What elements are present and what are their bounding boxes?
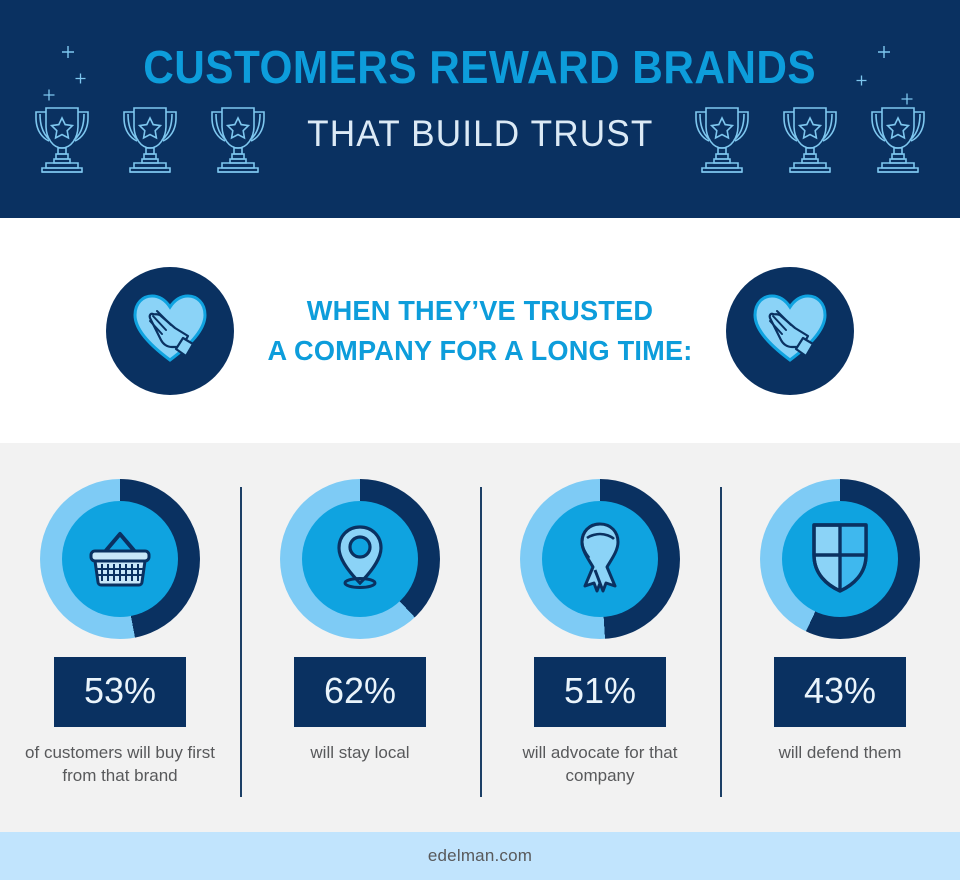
praying-hands-heart-icon <box>751 292 829 369</box>
shopping-basket-icon <box>84 526 156 593</box>
praying-hands-heart-icon <box>131 292 209 369</box>
donut-center <box>782 501 898 617</box>
praying-hands-heart-badge-left <box>106 267 234 395</box>
sparkle-plus-icon <box>74 72 87 85</box>
trophy-group-right <box>688 100 932 185</box>
percentage-badge: 62% <box>294 657 426 727</box>
trophy-group-left <box>28 100 272 185</box>
trust-statement-section: WHEN THEY’VE TRUSTED A COMPANY FOR A LON… <box>0 218 960 443</box>
footer-website-label: edelman.com <box>428 846 532 866</box>
donut-center <box>302 501 418 617</box>
donut-gauge <box>280 479 440 639</box>
trophy-icon <box>116 100 184 185</box>
donut-center <box>542 501 658 617</box>
sparkle-plus-icon <box>876 44 892 60</box>
location-pin-icon <box>328 521 392 598</box>
sparkle-plus-icon <box>855 74 868 87</box>
trophy-icon <box>688 100 756 185</box>
stat-column: 62% will stay local <box>240 443 480 832</box>
page-subtitle: THAT BUILD TRUST <box>307 114 653 154</box>
percentage-badge: 51% <box>534 657 666 727</box>
stat-column: 53% of customers will buy first from tha… <box>0 443 240 832</box>
page-title: CUSTOMERS REWARD BRANDS <box>144 42 817 92</box>
sparkle-plus-icon <box>900 92 914 106</box>
stat-caption: will advocate for that company <box>500 741 700 787</box>
header-banner: CUSTOMERS REWARD BRANDS THAT BUILD TRUST <box>0 0 960 218</box>
stats-section: 53% of customers will buy first from tha… <box>0 443 960 832</box>
footer-bar: edelman.com <box>0 832 960 880</box>
donut-gauge <box>520 479 680 639</box>
stat-column: 51% will advocate for that company <box>480 443 720 832</box>
sparkle-plus-icon <box>42 88 56 102</box>
sparkle-plus-icon <box>60 44 76 60</box>
donut-center <box>62 501 178 617</box>
trust-statement-line-1: WHEN THEY’VE TRUSTED <box>241 291 718 331</box>
trophy-icon <box>776 100 844 185</box>
stat-caption: of customers will buy first from that br… <box>20 741 220 787</box>
praying-hands-heart-badge-right <box>726 267 854 395</box>
trust-statement-text: WHEN THEY’VE TRUSTED A COMPANY FOR A LON… <box>241 291 718 371</box>
donut-gauge <box>40 479 200 639</box>
trophy-icon <box>864 100 932 185</box>
trust-statement-line-2: A COMPANY FOR A LONG TIME: <box>241 331 718 371</box>
stat-caption: will stay local <box>310 741 409 764</box>
stat-column: 43% will defend them <box>720 443 960 832</box>
trophy-icon <box>28 100 96 185</box>
percentage-badge: 53% <box>54 657 186 727</box>
stat-caption: will defend them <box>779 741 902 764</box>
percentage-badge: 43% <box>774 657 906 727</box>
donut-gauge <box>760 479 920 639</box>
awareness-ribbon-icon <box>569 520 631 599</box>
shield-icon <box>809 519 871 600</box>
infographic-root: CUSTOMERS REWARD BRANDS THAT BUILD TRUST <box>0 0 960 880</box>
trophy-icon <box>204 100 272 185</box>
